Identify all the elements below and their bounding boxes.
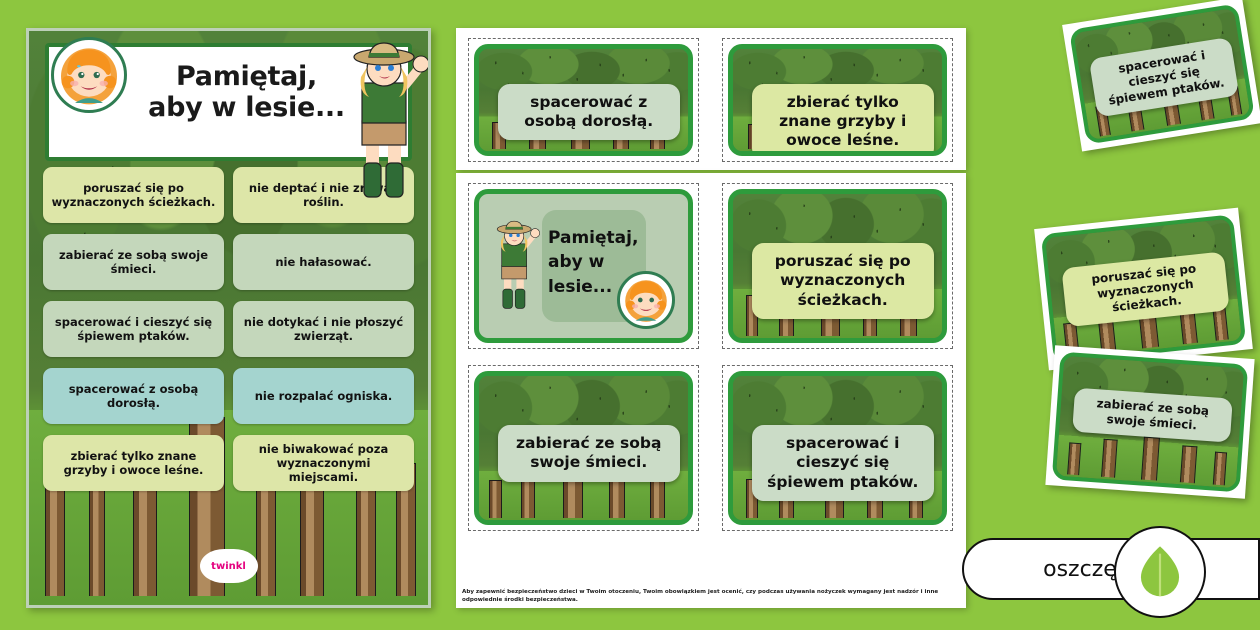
floating-flashcard[interactable]: zabierać ze sobą swoje śmieci. (1045, 345, 1254, 499)
rule-item[interactable]: nie biwakować poza wyznaczonymi miejscam… (233, 435, 414, 491)
cut-cell[interactable]: Pamiętaj, aby w lesie... (468, 183, 699, 349)
rules-grid: poruszać się po wyznaczonych ścieżkach. … (43, 167, 414, 491)
cut-cell[interactable]: spacerować i cieszyć się śpiewem ptaków. (722, 365, 953, 531)
girl-face-icon (617, 271, 675, 329)
rule-item[interactable]: nie dotykać i nie płoszyć zwierząt. (233, 301, 414, 357)
twinkl-logo[interactable]: twinkl (200, 549, 258, 583)
rule-item[interactable]: nie rozpalać ogniska. (233, 368, 414, 424)
rule-item[interactable]: zabierać ze sobą swoje śmieci. (43, 234, 224, 290)
floating-flashcard[interactable]: spacerować i cieszyć się śpiewem ptaków. (1062, 0, 1260, 151)
flashcard[interactable]: spacerować z osobą dorosłą. (474, 44, 693, 156)
save-ink-label: oszczędź tusz (964, 557, 1258, 582)
rule-item[interactable]: spacerować z osobą dorosłą. (43, 368, 224, 424)
flashcard[interactable]: zbierać tylko znane grzyby i owoce leśne… (728, 44, 947, 156)
cut-cell[interactable]: zabierać ze sobą swoje śmieci. (468, 365, 699, 531)
save-ink-badge[interactable]: oszczędź tusz (962, 538, 1260, 600)
flashcard[interactable]: spacerować i cieszyć się śpiewem ptaków. (1069, 3, 1255, 144)
rule-item[interactable]: spacerować i cieszyć się śpiewem ptaków. (43, 301, 224, 357)
twinkl-wordmark: twinkl (200, 549, 258, 583)
card-label: poruszać się po wyznaczonych ścieżkach. (752, 243, 934, 319)
cut-cell[interactable]: poruszać się po wyznaczonych ścieżkach. (722, 183, 953, 349)
girl-face-icon (51, 37, 127, 113)
safety-disclaimer: Aby zapewnić bezpieczeństwo dzieci w Two… (462, 588, 958, 604)
cut-grid-bottom: Pamiętaj, aby w lesie... (456, 173, 966, 608)
title-flashcard[interactable]: Pamiętaj, aby w lesie... (474, 189, 693, 343)
ranger-girl-illustration (487, 206, 541, 327)
flashcard[interactable]: zabierać ze sobą swoje śmieci. (1052, 352, 1248, 493)
cut-out-sheet-bottom[interactable]: Pamiętaj, aby w lesie... (456, 173, 966, 608)
card-label: spacerować i cieszyć się śpiewem ptaków. (752, 425, 934, 501)
page-title: Pamiętaj, aby w lesie... (145, 61, 348, 123)
cut-out-sheet-top[interactable]: spacerować z osobą dorosłą. zbierać tylk… (456, 28, 966, 170)
flashcard[interactable]: poruszać się po wyznaczonych ścieżkach. (1041, 214, 1247, 363)
ranger-girl-illustration (336, 37, 431, 209)
flashcard[interactable]: spacerować i cieszyć się śpiewem ptaków. (728, 371, 947, 525)
rule-item[interactable]: zbierać tylko znane grzyby i owoce leśne… (43, 435, 224, 491)
cut-cell[interactable]: spacerować z osobą dorosłą. (468, 38, 699, 162)
leaf-icon (1114, 526, 1206, 618)
rule-item[interactable]: poruszać się po wyznaczonych ścieżkach. (43, 167, 224, 223)
forest-rules-poster[interactable]: Pamiętaj, aby w lesie... (26, 28, 431, 608)
card-label: zabierać ze sobą swoje śmieci. (498, 425, 680, 482)
flashcard[interactable]: poruszać się po wyznaczonych ścieżkach. (728, 189, 947, 343)
flashcard[interactable]: zabierać ze sobą swoje śmieci. (474, 371, 693, 525)
rule-item[interactable]: nie hałasować. (233, 234, 414, 290)
cut-cell[interactable]: zbierać tylko znane grzyby i owoce leśne… (722, 38, 953, 162)
cut-grid-top: spacerować z osobą dorosłą. zbierać tylk… (456, 28, 966, 170)
card-label: spacerować z osobą dorosłą. (498, 84, 680, 141)
card-label: zbierać tylko znane grzyby i owoce leśne… (752, 84, 934, 156)
